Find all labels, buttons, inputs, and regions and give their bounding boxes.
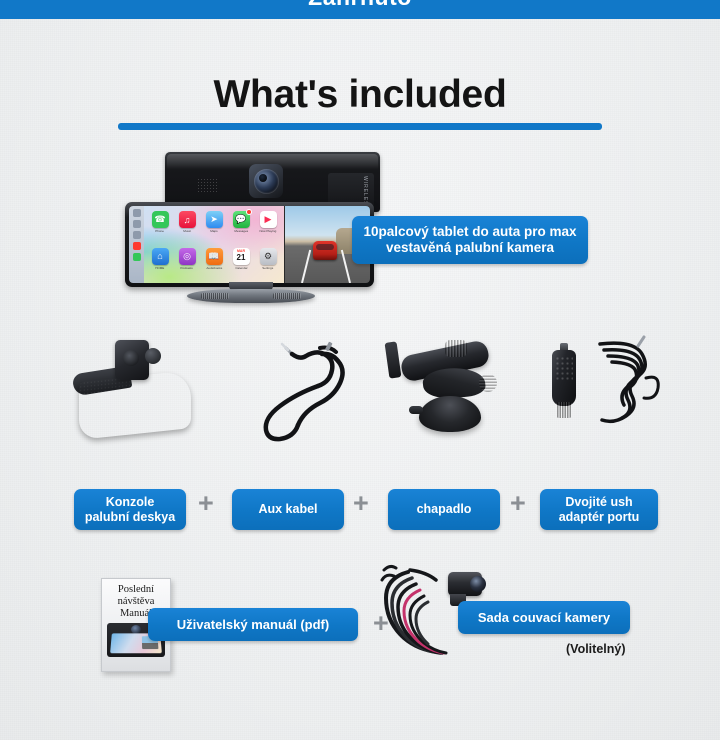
carplay-sidebar [129, 206, 144, 283]
notification-badge [246, 209, 252, 215]
app-label: Calendar [235, 266, 247, 270]
front-camera-icon [249, 164, 283, 198]
gear-icon: ⚙ [260, 248, 277, 265]
app-label: Phone [156, 229, 165, 233]
accessory-dual-usb-adapter: Dvojité ush adaptér portu [538, 330, 688, 530]
reverse-camera-lens-icon [470, 576, 486, 592]
app-grid: ☎ Phone ♫ Music ➤ Maps 💬 [148, 211, 280, 281]
booklet-line-1: Poslední [118, 584, 154, 595]
hero-product-label: 10palcový tablet do auta pro max vestavě… [352, 216, 588, 264]
sidebar-app-icon [133, 231, 141, 239]
device-stand [187, 282, 315, 304]
lane-line-right [341, 250, 351, 283]
app-phone[interactable]: ☎ Phone [148, 211, 172, 245]
optional-note: (Volitelný) [566, 642, 626, 656]
mount-knob-top [445, 340, 467, 357]
red-car [313, 241, 337, 260]
app-settings[interactable]: ⚙ Settings [256, 248, 280, 282]
plus-separator-2: + [353, 490, 369, 517]
suction-release-tab [409, 406, 423, 414]
booklet-line-2: návštěva [118, 596, 155, 607]
dual-usb-adapter-label: Dvojité ush adaptér portu [540, 489, 658, 530]
app-label: Music [183, 229, 191, 233]
console-knob [145, 348, 161, 364]
console-head [115, 340, 149, 380]
aux-cable-label: Aux kabel [232, 489, 344, 530]
charger-cable-svg [538, 330, 688, 455]
dual-usb-adapter-image [538, 330, 688, 455]
app-calendar[interactable]: MAR 21 Calendar [229, 248, 253, 282]
label-line-2: palubní deskya [85, 510, 175, 524]
label-line-1: Dvojité ush [565, 495, 632, 509]
carplay-home-grid: ☎ Phone ♫ Music ➤ Maps 💬 [144, 206, 284, 283]
maps-icon: ➤ [206, 211, 223, 228]
label-line-1: Konzole [106, 495, 155, 509]
stand-grip-right [273, 293, 301, 299]
sidebar-signal-icon [133, 220, 141, 228]
calendar-icon: MAR 21 [233, 248, 250, 265]
app-podcasts[interactable]: ◎ Podcasts [175, 248, 199, 282]
suction-cup [419, 396, 481, 432]
sidebar-whatsapp-icon [133, 253, 141, 261]
lane-line-left [301, 250, 311, 283]
camera-lens-icon [254, 169, 279, 194]
sidebar-clock-icon [133, 209, 141, 217]
app-music[interactable]: ♫ Music [175, 211, 199, 245]
phone-icon: ☎ [152, 211, 169, 228]
stand-grip-left [201, 293, 229, 299]
hero-product-image: WIRELESS ☎ Phone ♫ Music [125, 152, 390, 310]
app-audiobooks[interactable]: 📖 Audiobooks [202, 248, 226, 282]
page-title: What's included [0, 73, 720, 117]
app-label: Now Playing [260, 229, 277, 233]
label-line-2: adaptér portu [559, 510, 640, 524]
console-pad [79, 370, 191, 440]
tablet-screen: ☎ Phone ♫ Music ➤ Maps 💬 [129, 206, 370, 283]
app-label: Audiobooks [206, 266, 222, 270]
top-banner-text: Zahrnuto [0, 0, 720, 11]
accessory-row: Konzole palubní deskya + Aux kabel [0, 330, 720, 530]
app-label: HOME [155, 266, 164, 270]
dashboard-console-label: Konzole palubní deskya [74, 489, 186, 530]
console-ball-socket [123, 350, 139, 366]
mount-backplate [385, 341, 402, 378]
calendar-day: 21 [237, 254, 246, 262]
plus-separator-3: + [510, 490, 526, 517]
home-icon: ⌂ [152, 248, 169, 265]
app-label: Settings [263, 266, 274, 270]
app-messages[interactable]: 💬 Messages [229, 211, 253, 245]
dashboard-console-image [73, 330, 223, 455]
messages-icon: 💬 [233, 211, 250, 228]
aux-cable-svg [228, 330, 378, 455]
speaker-grill-icon [197, 178, 219, 192]
reverse-camera-label: Sada couvací kamery [458, 601, 630, 634]
plus-separator-1: + [198, 490, 214, 517]
app-home[interactable]: ⌂ HOME [148, 248, 172, 282]
app-label: Podcasts [181, 266, 193, 270]
suction-mount-label: chapadlo [388, 489, 500, 530]
user-manual-label: Uživatelský manuál (pdf) [148, 608, 358, 641]
title-underline [118, 123, 602, 130]
app-label: Messages [234, 229, 248, 233]
now-playing-icon: ▶ [260, 211, 277, 228]
sidebar-youtube-icon [133, 242, 141, 250]
mount-knob-side [479, 374, 497, 392]
music-icon: ♫ [179, 211, 196, 228]
app-label: Maps [210, 229, 217, 233]
tablet-screen-bezel: ☎ Phone ♫ Music ➤ Maps 💬 [125, 202, 374, 287]
aux-cable-image [228, 330, 378, 455]
audiobooks-icon: 📖 [206, 248, 223, 265]
suction-mount-image [383, 330, 533, 455]
reverse-camera-body [448, 572, 482, 596]
podcasts-icon: ◎ [179, 248, 196, 265]
top-banner-bar: Zahrnuto [0, 0, 720, 19]
app-maps[interactable]: ➤ Maps [202, 211, 226, 245]
app-now-playing[interactable]: ▶ Now Playing [256, 211, 280, 245]
